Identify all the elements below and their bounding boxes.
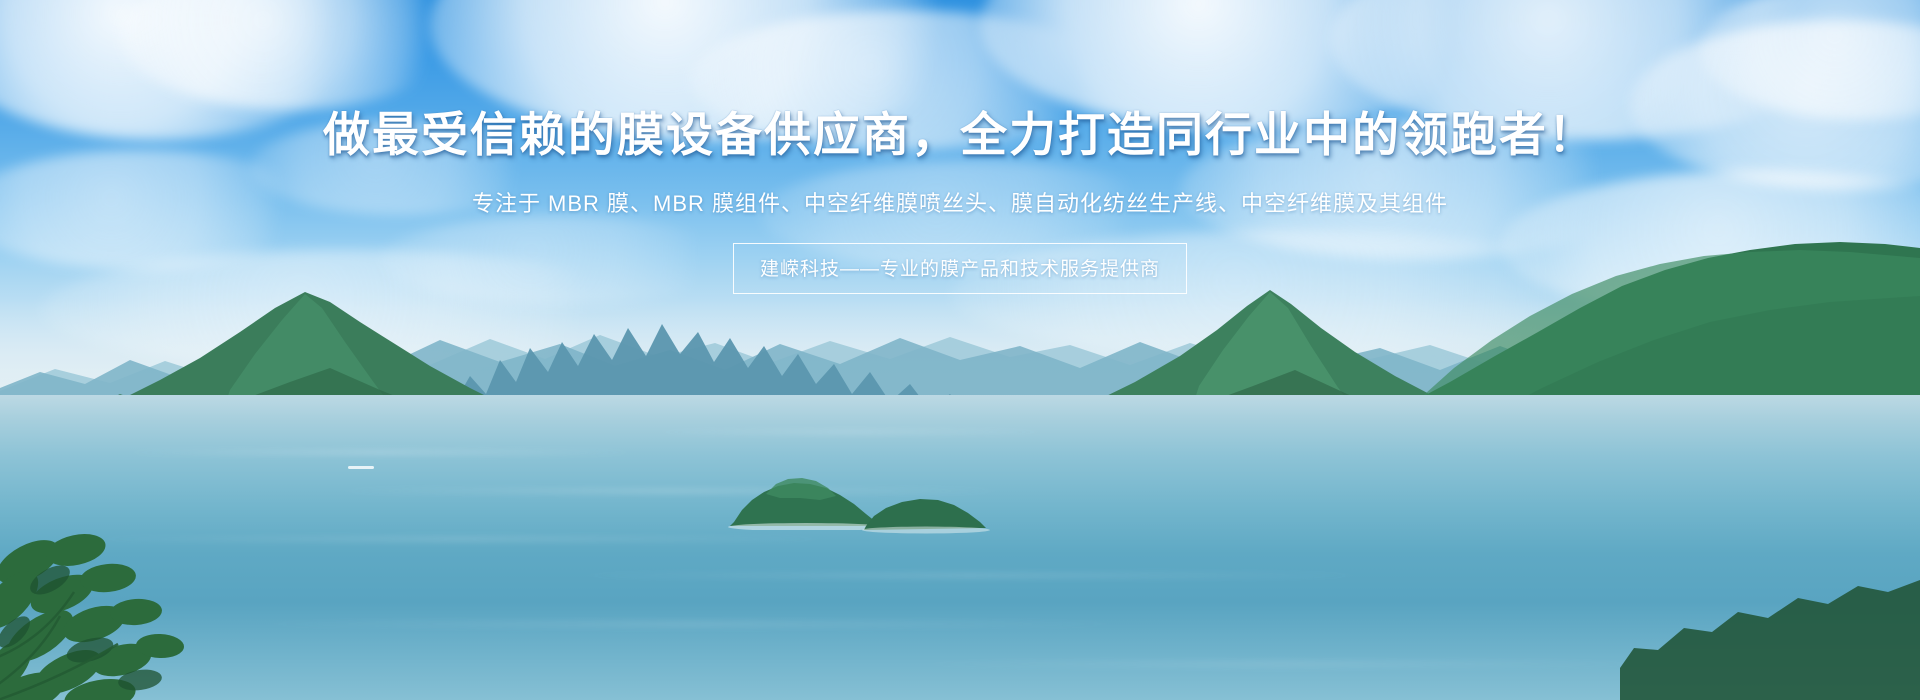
water-reflection <box>240 620 1140 628</box>
cloud-shape <box>250 120 550 215</box>
water-reflection <box>640 430 1060 434</box>
water-reflection <box>900 660 1660 668</box>
lake-islet-small <box>856 486 1006 534</box>
hero-banner: 做最受信赖的膜设备供应商，全力打造同行业中的领跑者！ 专注于 MBR 膜、MBR… <box>0 0 1920 700</box>
foreground-foliage-right <box>1620 560 1920 700</box>
water-reflection <box>560 572 1380 579</box>
shoreline <box>0 388 1920 458</box>
foreground-leaves <box>0 520 240 700</box>
boat-wake <box>348 466 374 469</box>
water-reflection <box>120 450 640 455</box>
